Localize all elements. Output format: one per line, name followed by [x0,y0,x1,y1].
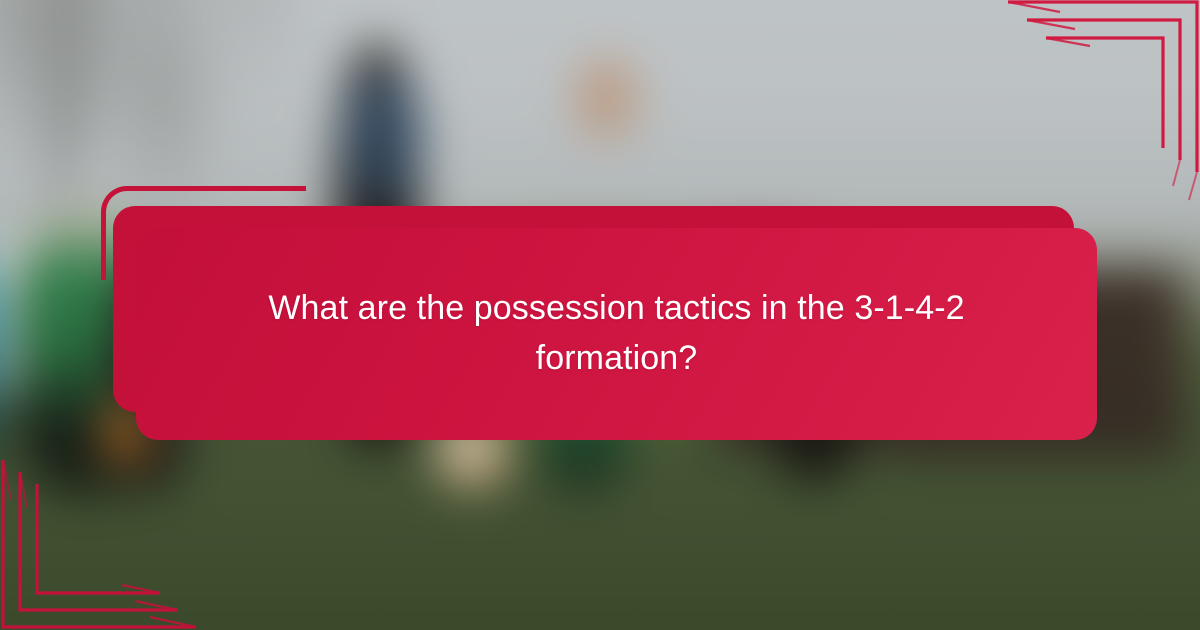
question-text: What are the possession tactics in the 3… [136,228,1097,440]
screenshot-stage: What are the possession tactics in the 3… [0,0,1200,630]
question-card: What are the possession tactics in the 3… [136,228,1097,440]
question-card-group: What are the possession tactics in the 3… [0,0,1200,630]
